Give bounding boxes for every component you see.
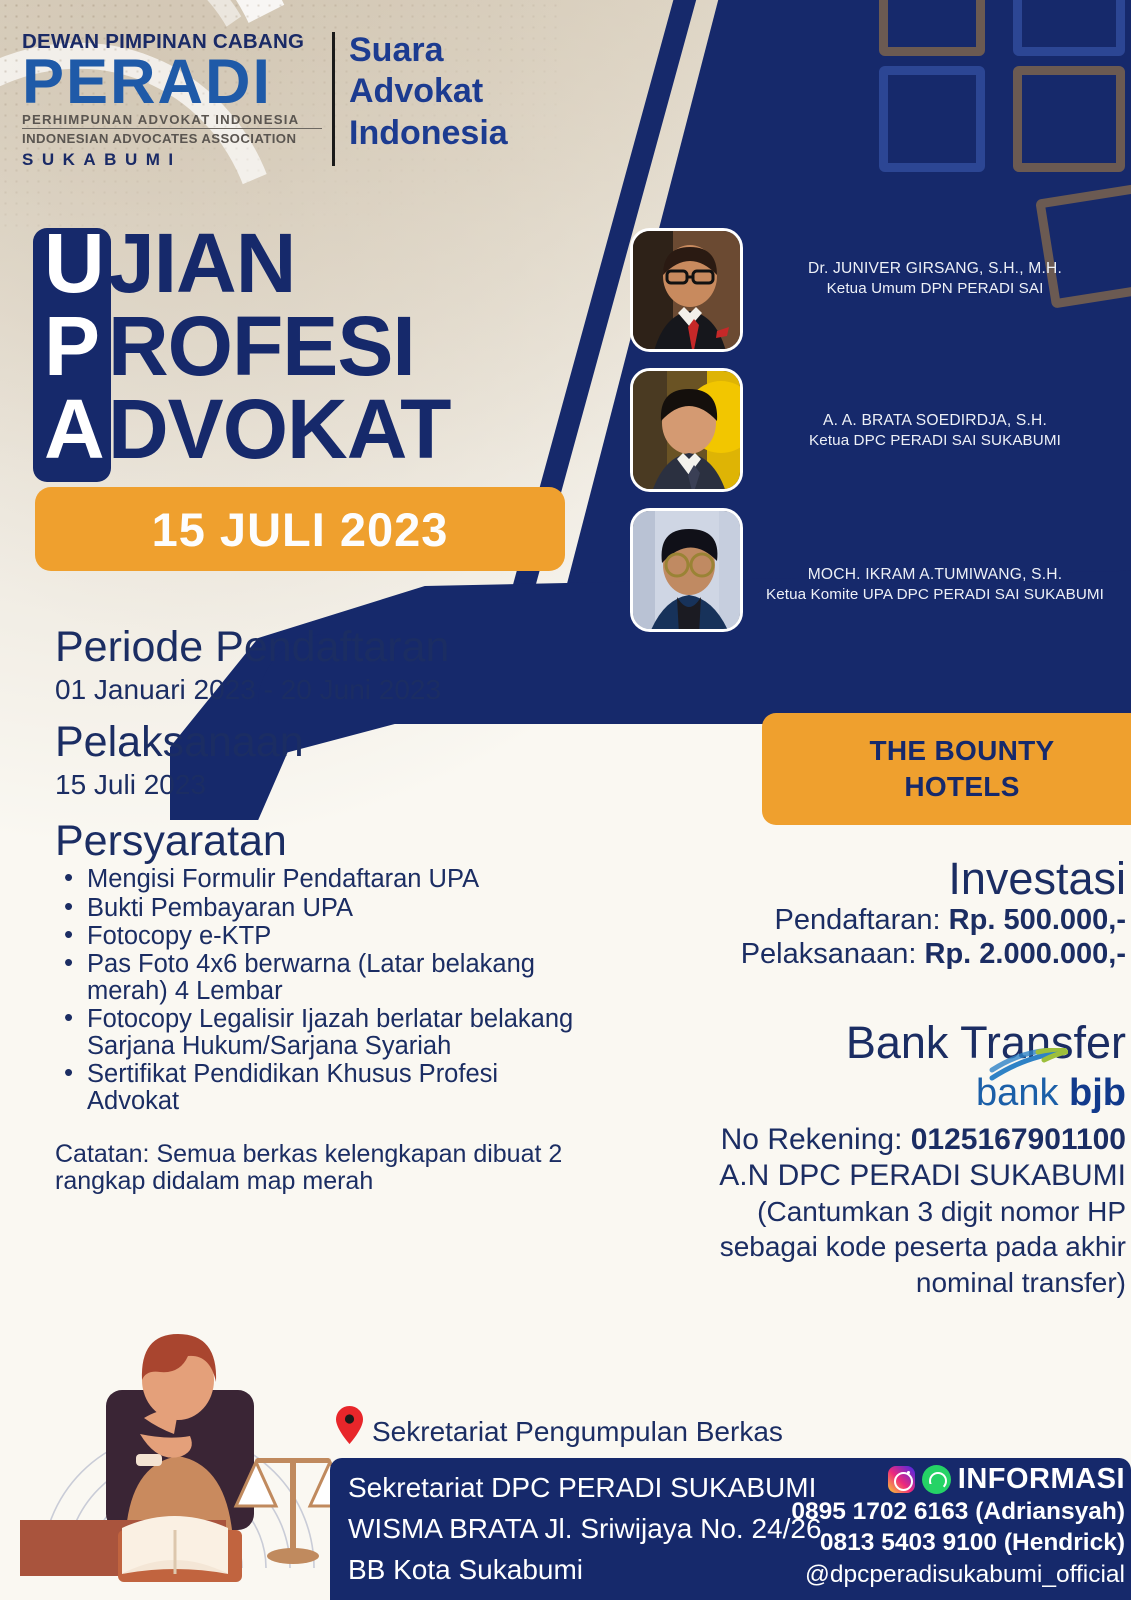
event-title-line-1: JIAN [108,222,450,305]
investment-title: Investasi [566,855,1126,903]
contact-header: INFORMASI [705,1463,1125,1496]
speaker-role: Ketua Umum DPN PERADI SAI [755,280,1115,297]
avatar [630,228,743,352]
logo-tagline-line-1: Suara [349,30,508,71]
location-pin-icon [336,1406,363,1444]
upa-letter-a: A [44,388,104,471]
venue-line-2: HOTELS [904,769,1019,805]
investment-amount: Rp. 500.000,- [949,904,1126,936]
logo-tagline-line-2: Advokat [349,71,508,112]
speaker-info: Dr. JUNIVER GIRSANG, S.H., M.H. Ketua Um… [755,260,1115,297]
speaker-name: A. A. BRATA SOEDIRDJA, S.H. [755,412,1115,430]
bank-account-row: No Rekening: 0125167901100 [566,1122,1126,1158]
bank-account-name: A.N DPC PERADI SUKABUMI [566,1158,1126,1194]
event-date-text: 15 JULI 2023 [152,502,449,557]
avatar [630,508,743,632]
lawyer-illustration [18,1268,368,1600]
logo-brand-text: PERADI [22,56,322,109]
footer-contact: INFORMASI 0895 1702 6163 (Adriansyah) 08… [705,1463,1125,1591]
logo-subtitle-id: PERHIMPUNAN ADVOKAT INDONESIA [22,112,322,129]
registration-info: Periode Pendaftaran 01 Januari 2023 - 20… [55,625,575,1195]
event-title-line-3: DVOKAT [108,388,450,471]
list-item: Sertifikat Pendidikan Khusus Profesi Adv… [55,1061,575,1115]
investment-amount: Rp. 2.000.000,- [925,938,1127,970]
list-item: Fotocopy Legalisir Ijazah berlatar belak… [55,1006,575,1060]
list-item: Mengisi Formulir Pendaftaran UPA [55,866,575,893]
bank-note-line-3: nominal transfer) [566,1265,1126,1301]
requirements-list: Mengisi Formulir Pendaftaran UPA Bukti P… [55,866,575,1114]
list-item: Pas Foto 4x6 berwarna (Latar belakang me… [55,951,575,1005]
contact-phone-2[interactable]: 0813 5403 9100 (Hendrick) [705,1527,1125,1558]
poster-root: DEWAN PIMPINAN CABANG PERADI PERHIMPUNAN… [0,0,1131,1600]
event-title: JIAN ROFESI DVOKAT [108,222,450,471]
speaker-item: A. A. BRATA SOEDIRDJA, S.H. Ketua DPC PE… [630,368,1110,495]
speaker-name: MOCH. IKRAM A.TUMIWANG, S.H. [755,566,1115,584]
decorative-square-icon [1013,66,1125,172]
avatar [630,368,743,492]
speaker-info: MOCH. IKRAM A.TUMIWANG, S.H. Ketua Komit… [755,566,1115,603]
investment-row: Pendaftaran: Rp. 500.000,- [566,903,1126,937]
bank-account-label: No Rekening: [721,1123,911,1156]
logo-tagline-line-3: Indonesia [349,113,508,154]
speaker-info: A. A. BRATA SOEDIRDJA, S.H. Ketua DPC PE… [755,412,1115,449]
decorative-square-icon [879,0,985,56]
speaker-item: MOCH. IKRAM A.TUMIWANG, S.H. Ketua Komit… [630,508,1110,635]
investment-label: Pelaksanaan: [741,938,925,970]
secretariat-label: Sekretariat Pengumpulan Berkas [372,1416,783,1448]
peradi-logo: DEWAN PIMPINAN CABANG PERADI PERHIMPUNAN… [22,30,508,170]
logo-divider [332,32,335,166]
bank-note-line-1: (Cantumkan 3 digit nomor HP [566,1194,1126,1230]
requirements-note: Catatan: Semua berkas kelengkapan dibuat… [55,1141,575,1195]
upa-letter-u: U [44,222,104,305]
bank-transfer-section: Bank Transfer bank bjb No Rekening: 0125… [566,1018,1126,1301]
decorative-square-icon [879,66,985,172]
event-date-badge: 15 JULI 2023 [35,487,565,571]
list-item: Bukti Pembayaran UPA [55,895,575,922]
whatsapp-icon[interactable] [922,1465,951,1494]
contact-title: INFORMASI [958,1463,1125,1496]
bank-bjb-swoosh-icon [986,1048,1068,1082]
period-title: Periode Pendaftaran [55,625,575,671]
venue-badge: THE BOUNTY HOTELS [762,713,1131,825]
investment-section: Investasi Pendaftaran: Rp. 500.000,- Pel… [566,855,1126,971]
upa-letter-p: P [44,305,104,388]
speaker-name: Dr. JUNIVER GIRSANG, S.H., M.H. [755,260,1115,278]
upa-acronym-letters: U P A [44,222,104,471]
logo-tagline: Suara Advokat Indonesia [349,30,508,170]
speaker-role: Ketua DPC PERADI SAI SUKABUMI [755,432,1115,449]
period-value: 01 Januari 2023 - 20 Juni 2023 [55,673,575,707]
contact-phone-1[interactable]: 0895 1702 6163 (Adriansyah) [705,1496,1125,1527]
bank-bjb-word-bold: bjb [1069,1072,1126,1114]
speaker-item: Dr. JUNIVER GIRSANG, S.H., M.H. Ketua Um… [630,228,1110,355]
requirements-title: Persyaratan [55,819,575,864]
list-item: Fotocopy e-KTP [55,923,575,950]
event-title-line-2: ROFESI [108,305,450,388]
instagram-icon[interactable] [888,1466,915,1493]
speaker-role: Ketua Komite UPA DPC PERADI SAI SUKABUMI [755,586,1115,603]
speaker-list: Dr. JUNIVER GIRSANG, S.H., M.H. Ketua Um… [630,228,1110,648]
execution-value: 15 Juli 2023 [55,768,575,802]
execution-title: Pelaksanaan [55,720,575,766]
investment-row: Pelaksanaan: Rp. 2.000.000,- [566,937,1126,971]
bank-account-number: 0125167901100 [911,1123,1126,1156]
investment-label: Pendaftaran: [775,904,949,936]
logo-city: SUKABUMI [22,150,322,170]
logo-subtitle-en: INDONESIAN ADVOCATES ASSOCIATION [22,131,322,146]
decorative-square-icon [1013,0,1125,56]
bank-note-line-2: sebagai kode peserta pada akhir [566,1229,1126,1265]
venue-line-1: THE BOUNTY [870,733,1055,769]
contact-instagram-handle[interactable]: @dpcperadisukabumi_official [705,1559,1125,1591]
